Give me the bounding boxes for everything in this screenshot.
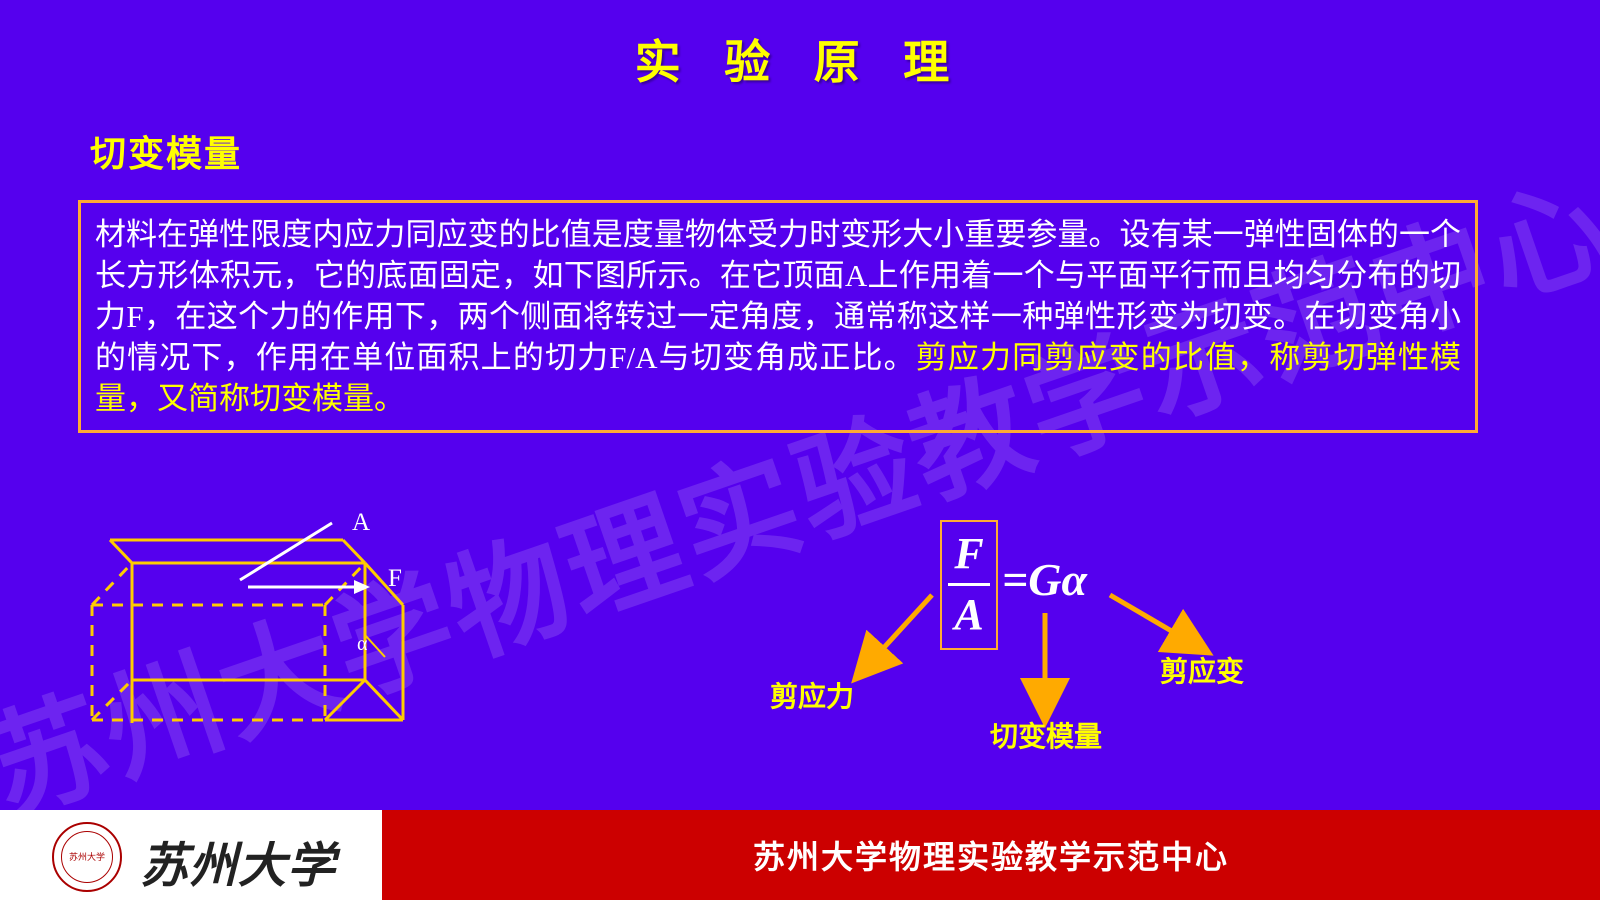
fraction-bar — [948, 583, 990, 586]
university-seal-icon: 苏州大学 — [52, 822, 122, 892]
figure-label-alpha: α — [357, 633, 367, 656]
university-seal-text: 苏州大学 — [61, 831, 113, 883]
footer-title: 苏州大学物理实验教学示范中心 — [753, 832, 1229, 878]
angle-mark — [365, 635, 385, 657]
formula-right-side: =Gα — [1002, 553, 1087, 606]
arrow-to-shear-stress — [868, 595, 932, 665]
fraction-numerator: F — [946, 527, 992, 581]
footer-bar: 苏州大学 苏州大学 苏州大学物理实验教学示范中心 — [0, 810, 1600, 900]
section-subtitle: 切变模量 — [90, 125, 242, 177]
page-title: 实 验 原 理 — [0, 26, 1600, 92]
label-shear-stress: 剪应力 — [770, 675, 854, 715]
label-shear-strain: 剪应变 — [1160, 650, 1244, 690]
footer-banner: 苏州大学物理实验教学示范中心 — [382, 810, 1600, 900]
leader-line-a — [240, 523, 332, 580]
cube-diagram-svg — [70, 505, 490, 785]
figure-label-a: A — [352, 509, 370, 537]
university-logo-text: 苏州大学 — [140, 826, 336, 896]
formula-diagram: F A =Gα 剪应力 切变模量 剪应变 — [760, 505, 1380, 785]
body-text-box: 材料在弹性限度内应力同应变的比值是度量物体受力时变形大小重要参量。设有某一弹性固… — [78, 200, 1478, 433]
force-arrow-head — [354, 580, 370, 594]
label-shear-modulus: 切变模量 — [990, 715, 1102, 755]
footer-logo-area: 苏州大学 苏州大学 — [0, 810, 382, 900]
cube-diagram: A F α — [70, 505, 490, 785]
formula-equals-g: =G — [1002, 554, 1061, 605]
figure-label-f: F — [388, 565, 402, 593]
arrow-to-shear-strain — [1110, 595, 1192, 643]
fraction-denominator: A — [946, 588, 992, 642]
slide-canvas: 苏州大学物理实验教学示范中心 实 验 原 理 切变模量 材料在弹性限度内应力同应… — [0, 0, 1600, 900]
fraction: F A — [946, 527, 992, 642]
formula-alpha: α — [1061, 554, 1086, 605]
